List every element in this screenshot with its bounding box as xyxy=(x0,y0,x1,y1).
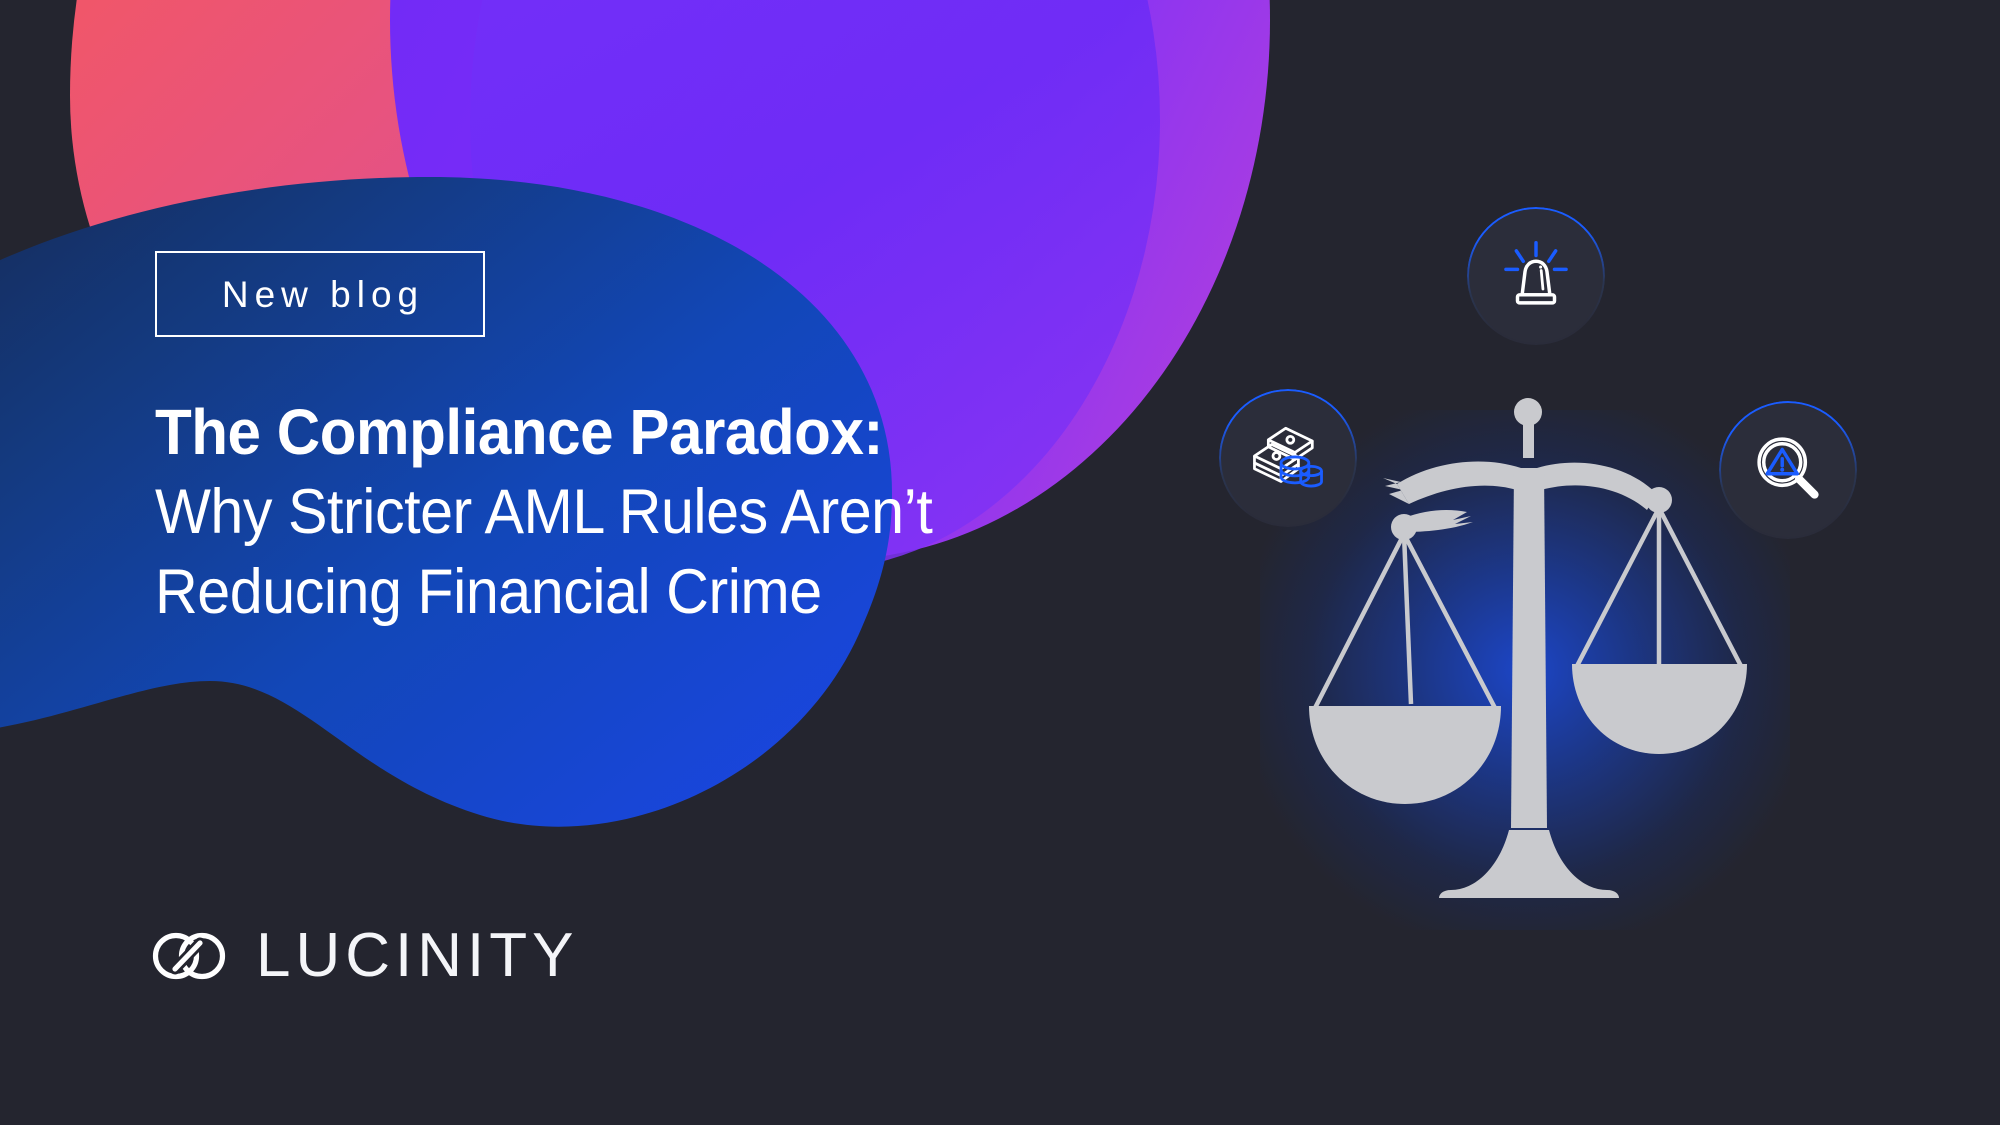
scales-of-justice xyxy=(1285,398,1765,938)
headline-line-3: Reducing Financial Crime xyxy=(155,552,1029,632)
siren-icon-circle xyxy=(1468,208,1604,344)
headline-line-2: Why Stricter AML Rules Aren’t xyxy=(155,472,1029,552)
siren-alarm-icon xyxy=(1499,237,1573,316)
lucinity-logo: LUCINITY xyxy=(152,925,578,987)
illustration-group xyxy=(1180,150,1960,950)
hero-banner: New blog The Compliance Paradox: Why Str… xyxy=(0,0,2000,1125)
headline-line-1: The Compliance Paradox: xyxy=(155,392,1029,472)
hero-content: New blog The Compliance Paradox: Why Str… xyxy=(0,0,1100,1125)
new-blog-badge: New blog xyxy=(155,251,485,337)
brand-name: LUCINITY xyxy=(256,925,578,987)
page-title: The Compliance Paradox: Why Stricter AML… xyxy=(155,392,1085,632)
infinity-loop-icon xyxy=(152,928,226,984)
badge-label: New blog xyxy=(216,276,424,313)
